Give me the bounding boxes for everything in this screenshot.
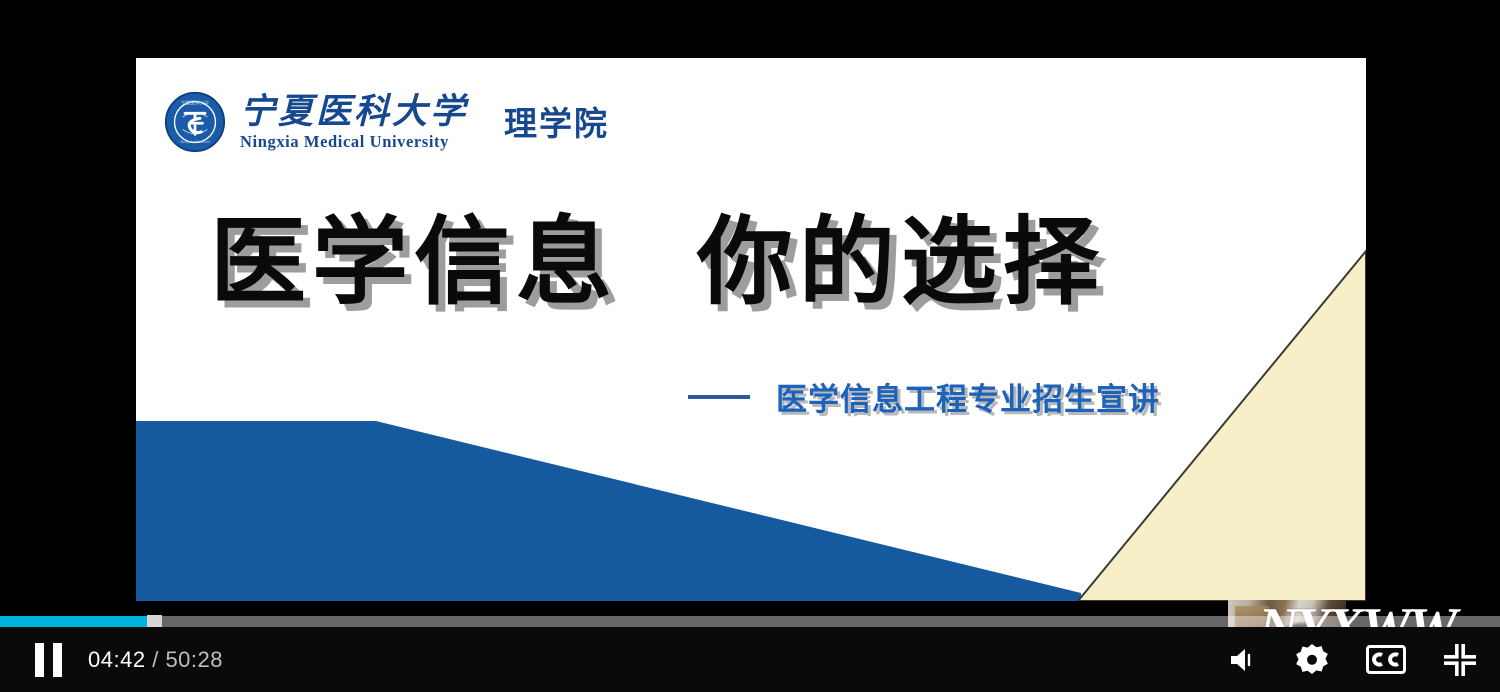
controls-left-group: 04:42 / 50:28 bbox=[0, 643, 223, 677]
svg-text:Ningxia Medical: Ningxia Medical bbox=[180, 140, 209, 144]
slide-title: 医学信息 你的选择 bbox=[210, 210, 1105, 316]
exit-fullscreen-button[interactable] bbox=[1442, 642, 1478, 678]
duration: 50:28 bbox=[165, 647, 223, 672]
cc-icon bbox=[1366, 645, 1406, 674]
time-display: 04:42 / 50:28 bbox=[88, 647, 223, 673]
controls-row: 04:42 / 50:28 bbox=[0, 627, 1500, 692]
progress-bar-buffer bbox=[0, 616, 1500, 627]
settings-button[interactable] bbox=[1294, 642, 1330, 678]
subtitle-text: 医学信息工程专业招生宣讲 bbox=[776, 374, 1160, 419]
university-name-en: Ningxia Medical University bbox=[240, 134, 468, 151]
progress-bar-played bbox=[0, 616, 147, 627]
time-separator: / bbox=[152, 647, 159, 672]
pause-icon-bar-left bbox=[35, 643, 44, 677]
college-name: 理学院 bbox=[504, 97, 609, 145]
player-control-bar[interactable]: 04:42 / 50:28 bbox=[0, 600, 1500, 692]
presentation-slide: 宁夏医科大学 Ningxia Medical 宁夏医科大学 Ningxia Me… bbox=[136, 58, 1366, 601]
volume-button[interactable] bbox=[1228, 646, 1258, 674]
university-name-cn: 宁夏医科大学 bbox=[240, 94, 468, 129]
progress-bar-track[interactable] bbox=[0, 616, 1500, 627]
pause-button[interactable] bbox=[34, 643, 62, 677]
exit-fullscreen-icon bbox=[1442, 642, 1478, 678]
volume-icon bbox=[1228, 646, 1258, 674]
slide-header: 宁夏医科大学 Ningxia Medical 宁夏医科大学 Ningxia Me… bbox=[164, 91, 609, 153]
gear-icon bbox=[1294, 642, 1330, 678]
current-time: 04:42 bbox=[88, 647, 146, 672]
pause-icon-bar-right bbox=[53, 643, 62, 677]
university-emblem-icon: 宁夏医科大学 Ningxia Medical bbox=[164, 91, 226, 153]
video-player[interactable]: 宁夏医科大学 Ningxia Medical 宁夏医科大学 Ningxia Me… bbox=[0, 0, 1500, 692]
captions-button[interactable] bbox=[1366, 645, 1406, 674]
video-frame[interactable]: 宁夏医科大学 Ningxia Medical 宁夏医科大学 Ningxia Me… bbox=[0, 0, 1500, 692]
slide-subtitle: 医学信息工程专业招生宣讲 bbox=[688, 374, 1160, 419]
controls-right-group bbox=[1228, 642, 1500, 678]
university-wordmark: 宁夏医科大学 Ningxia Medical University bbox=[240, 94, 468, 151]
subtitle-dash-icon bbox=[688, 395, 750, 399]
